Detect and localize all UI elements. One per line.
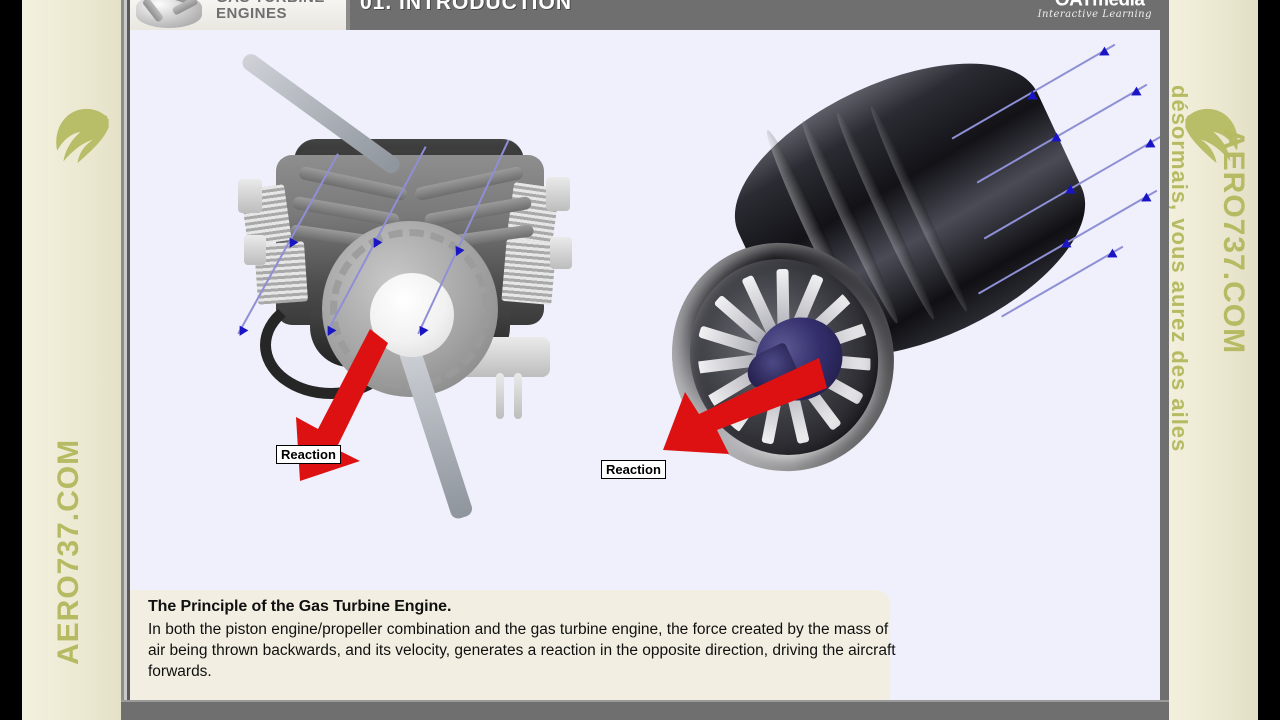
course-badge: GAS TURBINE ENGINES xyxy=(130,0,346,30)
window-bottom-highlight xyxy=(121,700,1169,702)
brand-tagline: Interactive Learning xyxy=(1038,9,1152,20)
reaction-label-right: Reaction xyxy=(601,460,666,479)
caption-heading: The Principle of the Gas Turbine Engine. xyxy=(148,598,896,616)
watermark-site-right: AERO737.COM xyxy=(1216,128,1250,354)
piston-engine-propeller-illustration xyxy=(238,125,588,465)
watermark-panel-left: AERO737.COM désormais, vous aurez des ai… xyxy=(22,0,130,720)
slide-canvas: Reaction xyxy=(130,30,1160,700)
courseware-window: GAS TURBINE ENGINES 01. INTRODUCTION OAT… xyxy=(121,0,1169,720)
watermark-site-left: AERO737.COM xyxy=(52,439,86,665)
title-bar: GAS TURBINE ENGINES 01. INTRODUCTION OAT… xyxy=(130,0,1160,30)
course-title: GAS TURBINE ENGINES xyxy=(216,0,344,22)
gas-turbine-thumbnail-icon xyxy=(132,0,208,30)
window-content: GAS TURBINE ENGINES 01. INTRODUCTION OAT… xyxy=(130,0,1160,700)
letterbox-right xyxy=(1258,0,1280,720)
watermark-panel-right: AERO737.COM désormais, vous aurez des ai… xyxy=(1162,0,1258,720)
window-bottom-bar xyxy=(121,700,1169,720)
caption-body: In both the piston engine/propeller comb… xyxy=(148,619,896,682)
reaction-label-left: Reaction xyxy=(276,445,341,464)
gas-turbine-engine-illustration xyxy=(655,50,1115,500)
letterbox-left xyxy=(0,0,22,720)
watermark-slogan-right: désormais, vous aurez des ailes xyxy=(1166,85,1192,452)
screen: AERO737.COM désormais, vous aurez des ai… xyxy=(0,0,1280,720)
header-divider xyxy=(346,0,350,30)
oatmedia-logo: OATmedia™ Interactive Learning xyxy=(1038,0,1152,20)
caption-panel: The Principle of the Gas Turbine Engine.… xyxy=(130,590,890,700)
section-title: 01. INTRODUCTION xyxy=(360,0,572,15)
eagle-logo-icon xyxy=(40,96,118,174)
reaction-arrow-right xyxy=(643,330,833,480)
